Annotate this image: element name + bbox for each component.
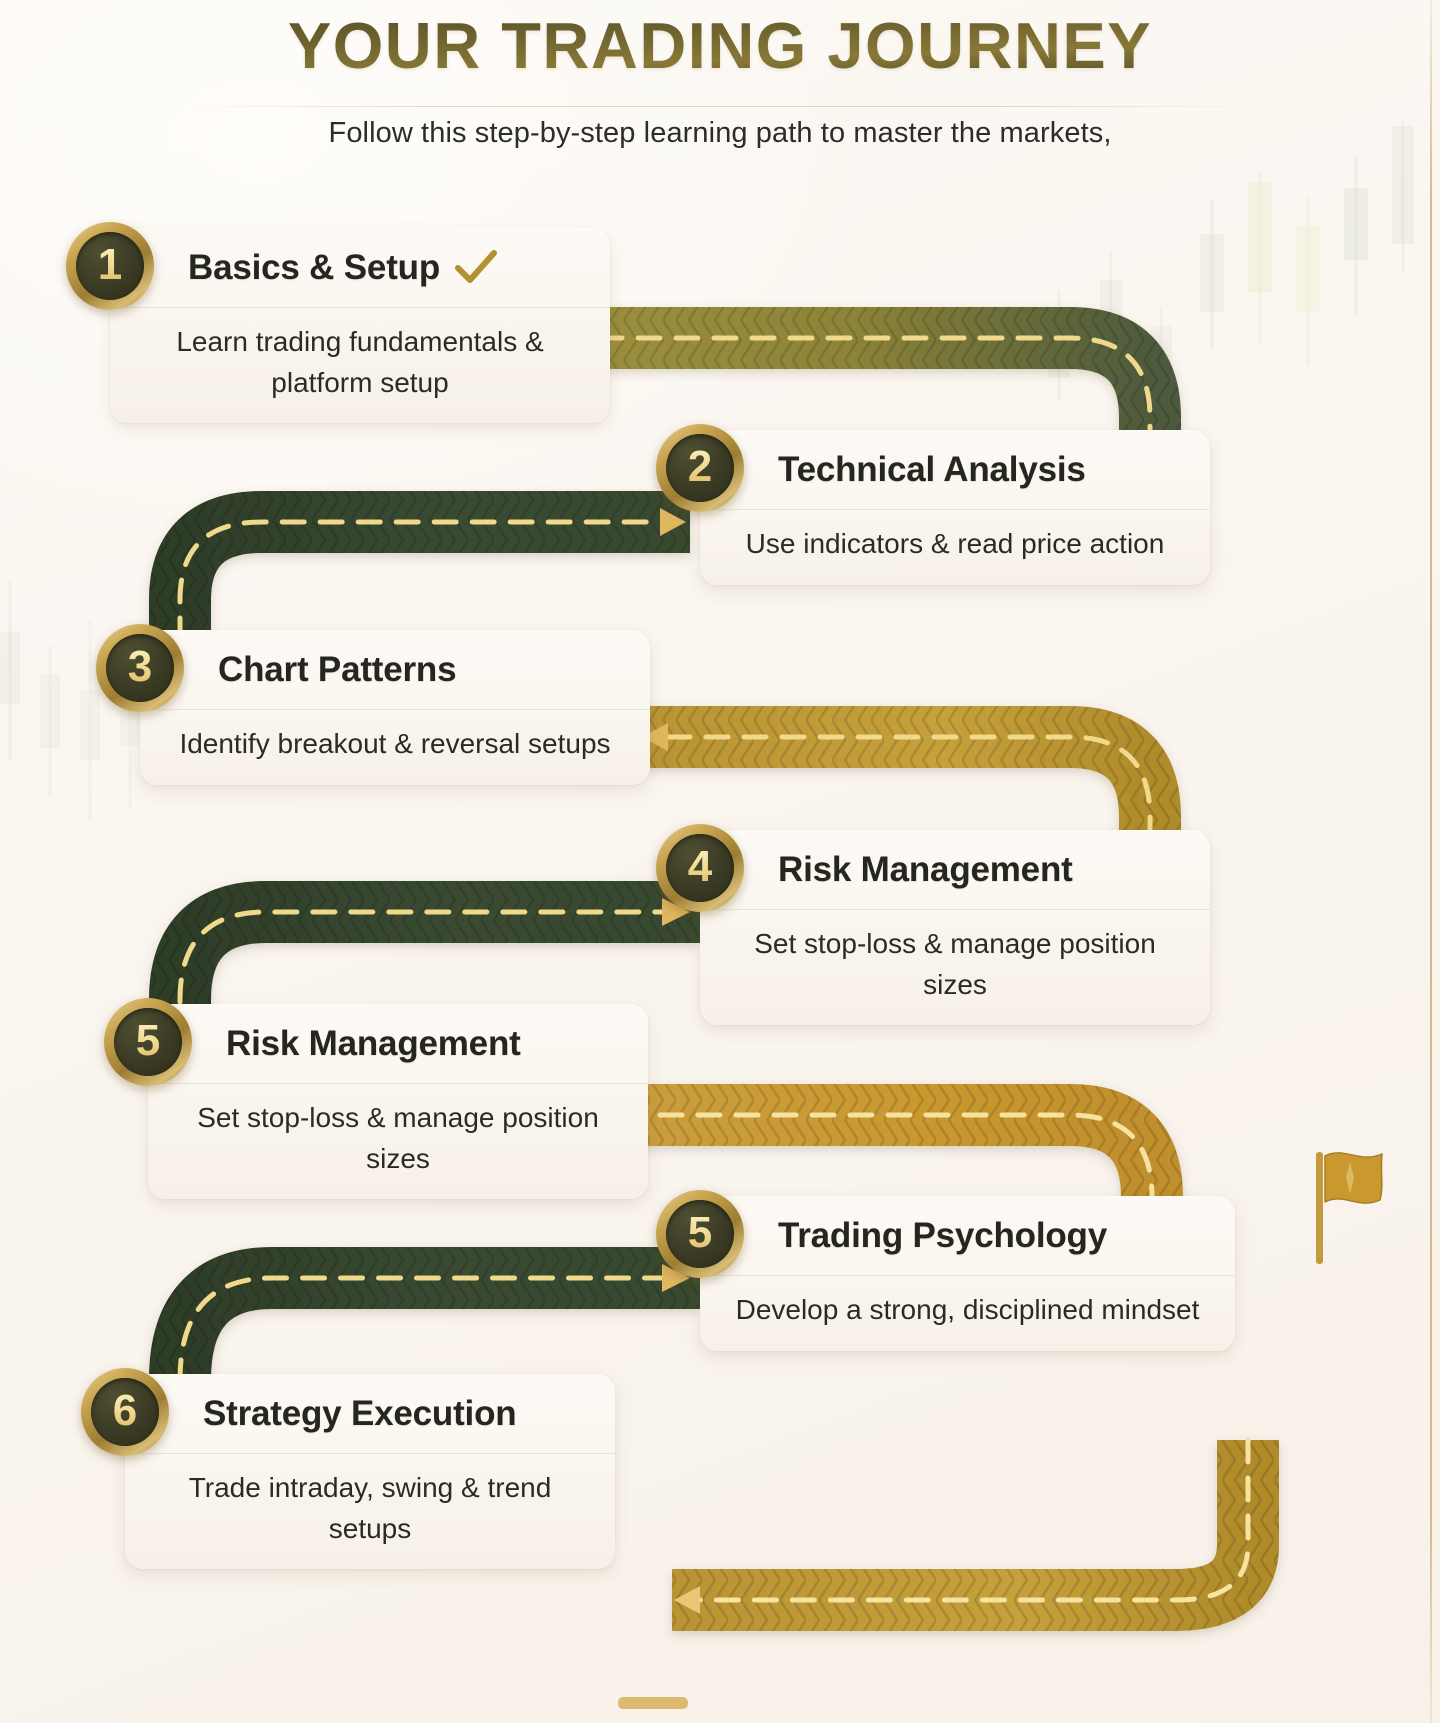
step-badge-6: 5 [656,1190,744,1278]
step-description: Learn trading fundamentals & platform se… [110,308,610,423]
step-badge-inner: 1 [76,232,144,300]
goal-flag-icon [1310,1144,1398,1266]
step-title: Trading Psychology [778,1216,1107,1256]
step-badge-inner: 5 [666,1200,734,1268]
step-badge-7: 6 [81,1368,169,1456]
step-description: Set stop-loss & manage position sizes [148,1084,648,1199]
step-badge-inner: 3 [106,634,174,702]
step-card-header: Technical Analysis [700,430,1210,510]
step-number: 5 [688,1211,712,1258]
step-badge-1: 1 [66,222,154,310]
step-card-header: Trading Psychology [700,1196,1235,1276]
step-title: Risk Management [778,850,1073,890]
step-title: Chart Patterns [218,650,456,690]
step-description: Identify breakout & reversal setups [140,710,650,785]
step-description: Trade intraday, swing & trend setups [125,1454,615,1569]
step-badge-inner: 2 [666,434,734,502]
step-title: Basics & Setup [188,248,440,288]
step-card-7[interactable]: 6 Strategy Execution Trade intraday, swi… [125,1374,615,1569]
step-description: Develop a strong, disciplined mindset [700,1276,1235,1351]
step-badge-inner: 5 [114,1008,182,1076]
step-number: 1 [98,243,122,290]
step-card-header: Strategy Execution [125,1374,615,1454]
step-badge-4: 4 [656,824,744,912]
infographic-canvas: YOUR TRADING JOURNEY Follow this step-by… [0,0,1440,1723]
step-title: Strategy Execution [203,1394,516,1434]
step-badge-5: 5 [104,998,192,1086]
step-card-4[interactable]: 4 Risk Management Set stop-loss & manage… [700,830,1210,1025]
step-badge-inner: 6 [91,1378,159,1446]
step-badge-inner: 4 [666,834,734,902]
step-card-3[interactable]: 3 Chart Patterns Identify breakout & rev… [140,630,650,785]
step-card-5[interactable]: 5 Risk Management Set stop-loss & manage… [148,1004,648,1199]
step-card-header: Risk Management [148,1004,648,1084]
step-number: 3 [128,645,152,692]
step-description: Use indicators & read price action [700,510,1210,585]
step-number: 4 [688,845,712,892]
step-badge-2: 2 [656,424,744,512]
step-description: Set stop-loss & manage position sizes [700,910,1210,1025]
step-card-header: Basics & Setup [110,228,610,308]
checkmark-icon [454,248,498,288]
step-number: 6 [113,1389,137,1436]
step-card-header: Risk Management [700,830,1210,910]
step-title: Risk Management [226,1024,521,1064]
step-card-6[interactable]: 5 Trading Psychology Develop a strong, d… [700,1196,1235,1351]
step-card-2[interactable]: 2 Technical Analysis Use indicators & re… [700,430,1210,585]
step-card-1[interactable]: 1 Basics & Setup Learn trading fundament… [110,228,610,423]
step-badge-3: 3 [96,624,184,712]
step-title: Technical Analysis [778,450,1086,490]
step-number: 5 [136,1019,160,1066]
step-card-header: Chart Patterns [140,630,650,710]
step-number: 2 [688,445,712,492]
